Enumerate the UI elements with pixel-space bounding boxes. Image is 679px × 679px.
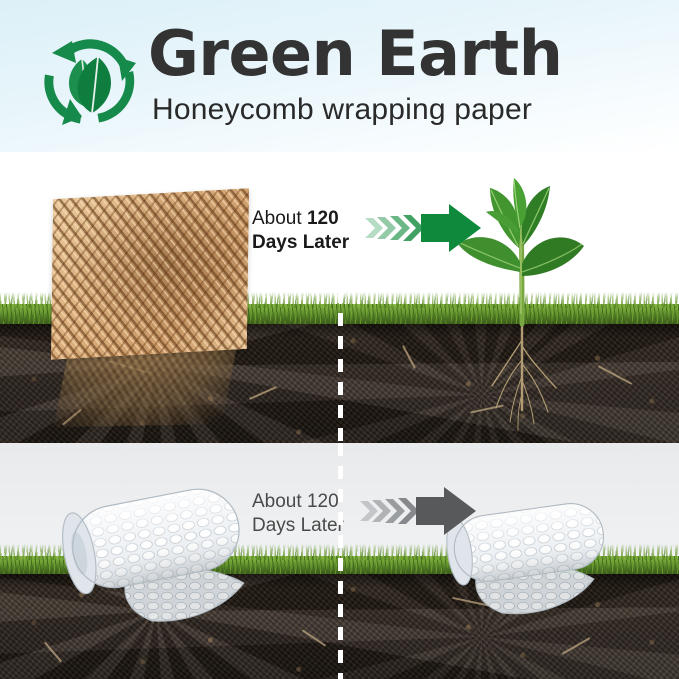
callout-label: About 120 Days Later (252, 207, 349, 255)
scene-divider-dashed-line (338, 443, 343, 679)
honeycomb-paper-scene: About 120 Days Later (0, 152, 679, 443)
callout-line1-value: 120 (307, 208, 339, 229)
soil-twig (249, 386, 277, 400)
soil-twig (44, 641, 62, 662)
scene-divider-dashed-line (338, 152, 343, 443)
gray-right-arrow-icon (358, 487, 480, 540)
callout-label: About 120 Days Later (252, 490, 344, 538)
honeycomb-kraft-paper-sheet (51, 188, 249, 359)
page-subtitle: Honeycomb wrapping paper (152, 92, 532, 128)
callout-line2: Days Later (252, 514, 344, 538)
soil-twig (562, 637, 591, 655)
callout-line1-prefix: About (252, 208, 307, 229)
callout-line2: Days Later (252, 231, 349, 255)
plastic-bubble-wrap-scene: About 120 Days Later (0, 443, 679, 679)
product-infographic: Green Earth Honeycomb wrapping paper (0, 0, 679, 679)
soil-twig (302, 629, 326, 646)
recycle-leaf-logo-icon (36, 29, 140, 133)
callout-line1-value: 120 (307, 491, 339, 512)
page-title: Green Earth (148, 20, 562, 88)
callout-120-days-plastic: About 120 Days Later (252, 487, 480, 540)
soil-twig (402, 345, 416, 369)
callout-line1-prefix: About (252, 491, 307, 512)
green-right-arrow-icon (363, 204, 485, 257)
callout-120-days-paper: About 120 Days Later (252, 204, 485, 257)
header-banner: Green Earth Honeycomb wrapping paper (0, 0, 679, 152)
